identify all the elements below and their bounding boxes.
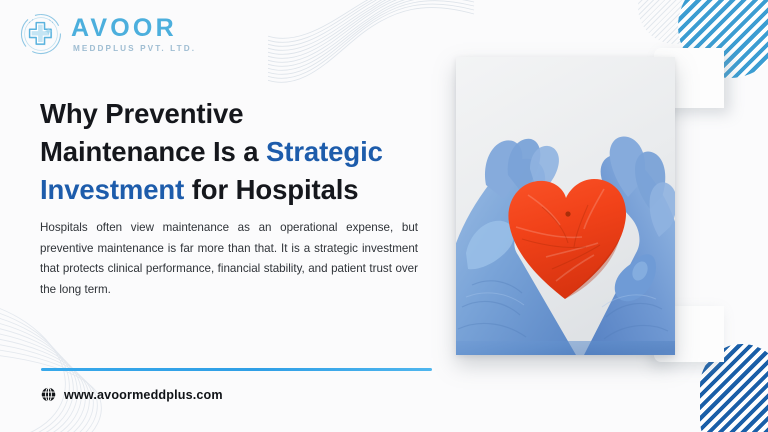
page-title: Why Preventive Maintenance Is a Strategi… <box>40 95 430 209</box>
headline-accent-investment: Investment <box>40 174 184 205</box>
headline-line-2-plain: Maintenance Is a <box>40 136 266 167</box>
brand-tagline: MEDDPLUS PVT. LTD. <box>71 45 196 53</box>
striped-arch-decoration-bottom-right <box>700 344 768 432</box>
website-url[interactable]: www.avoormeddplus.com <box>64 388 223 402</box>
headline-line-3-plain: for Hospitals <box>184 174 358 205</box>
wave-lines-decoration-bottom-left <box>0 290 190 432</box>
wave-lines-decoration-top <box>268 0 478 94</box>
globe-icon <box>41 387 56 402</box>
headline-accent-strategic: Strategic <box>266 136 383 167</box>
dotted-sphere-decoration <box>638 0 712 44</box>
headline-line-1: Why Preventive <box>40 98 243 129</box>
brand-logo[interactable]: AVOOR MEDDPLUS PVT. LTD. <box>18 11 196 57</box>
footer-website-bar[interactable]: www.avoormeddplus.com <box>41 387 223 402</box>
striped-circle-decoration-top-right <box>678 0 768 78</box>
footer-divider <box>41 368 432 371</box>
gloved-hands-holding-paper-heart-image <box>456 57 675 355</box>
hero-photo <box>456 57 675 355</box>
brand-name: AVOOR <box>71 16 196 41</box>
medical-cross-circle-logo-icon <box>18 11 64 57</box>
body-paragraph: Hospitals often view maintenance as an o… <box>40 218 418 301</box>
